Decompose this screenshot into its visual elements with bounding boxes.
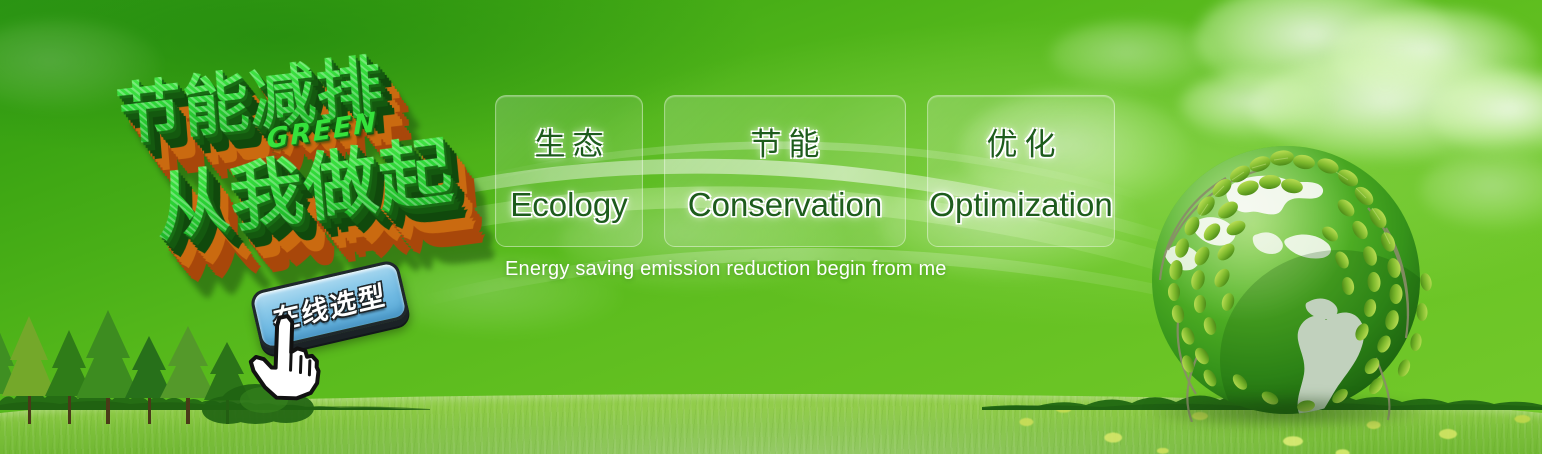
feature-card-en-label: Ecology bbox=[510, 186, 627, 224]
globe-glyph bbox=[1140, 130, 1432, 422]
feature-card-optimization[interactable]: 优化 Optimization bbox=[927, 95, 1115, 247]
feature-card-conservation[interactable]: 节能 Conservation bbox=[664, 95, 906, 247]
banner-tagline: Energy saving emission reduction begin f… bbox=[505, 258, 947, 281]
cloud-icon bbox=[1430, 70, 1542, 156]
feature-card-cn-label: 优化 bbox=[980, 119, 1063, 164]
leafy-earth-globe-icon bbox=[1140, 130, 1432, 422]
feature-card-ecology[interactable]: 生态 Ecology bbox=[495, 95, 643, 247]
cloud-icon bbox=[1195, 0, 1455, 100]
cloud-icon bbox=[1420, 150, 1542, 230]
feature-card-cn-label: 生态 bbox=[528, 119, 611, 164]
feature-cards: 生态 Ecology 节能 Conservation 优化 Optimizati… bbox=[495, 95, 1115, 247]
cloud-icon bbox=[1050, 20, 1220, 90]
promo-banner: 节能减排 GREEN 从我做起 在线选型 生态 Ecology 节能 Conse… bbox=[0, 0, 1542, 454]
feature-card-en-label: Conservation bbox=[688, 186, 882, 224]
cloud-icon bbox=[1330, 8, 1540, 104]
globe-shadow bbox=[1150, 394, 1422, 428]
feature-card-cn-label: 节能 bbox=[744, 119, 827, 164]
hand-pointer-glyph bbox=[247, 313, 326, 402]
feature-card-en-label: Optimization bbox=[929, 186, 1112, 224]
headline-artwork: 节能减排 GREEN 从我做起 bbox=[96, 28, 508, 295]
hand-pointer-icon bbox=[247, 313, 326, 402]
